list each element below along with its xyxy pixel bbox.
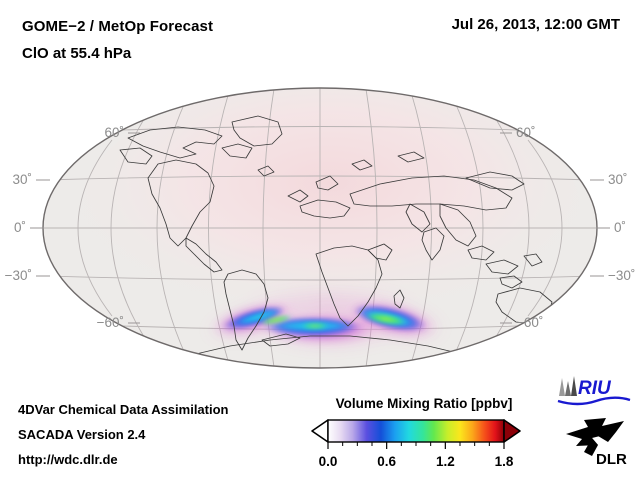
lat-label-30n-right: 30˚ — [608, 172, 628, 187]
dlr-logo: DLR — [562, 412, 634, 468]
colorbar-right-cap — [504, 420, 520, 442]
footer-line-1: 4DVar Chemical Data Assimilation — [18, 402, 229, 417]
lat-label-0-left: 0˚ — [14, 220, 26, 235]
header-species: ClO at 55.4 hPa — [22, 43, 131, 64]
riu-bars-icon — [559, 376, 577, 396]
lat-label-60s-left: −60˚ — [97, 315, 124, 330]
riu-logo: RIU — [556, 374, 632, 408]
colorbar-tick-label: 0.6 — [377, 454, 396, 469]
lat-label-30s-left: −30˚ — [5, 268, 32, 283]
colorbar-left-cap — [312, 420, 328, 442]
colorbar-title: Volume Mixing Ratio [ppbv] — [308, 396, 540, 411]
dlr-wordmark: DLR — [596, 451, 627, 468]
riu-wordmark: RIU — [578, 378, 612, 399]
footer-line-2: SACADA Version 2.4 — [18, 427, 145, 442]
colorbar-gradient — [328, 420, 504, 442]
colorbar: Volume Mixing Ratio [ppbv] 0.00.61.21.8 — [308, 396, 548, 476]
lat-label-30s-right: −30˚ — [608, 268, 635, 283]
world-map: 60˚ 30˚ 0˚ −30˚ −60˚ 60˚ 30˚ 0˚ −30˚ −60… — [0, 78, 640, 383]
colorbar-tick-labels: 0.00.61.21.8 — [319, 454, 514, 469]
colorbar-ticks — [328, 442, 504, 449]
footer-line-3[interactable]: http://wdc.dlr.de — [18, 452, 118, 467]
map-svg: 60˚ 30˚ 0˚ −30˚ −60˚ 60˚ 30˚ 0˚ −30˚ −60… — [0, 78, 640, 383]
colorbar-tick-label: 1.2 — [436, 454, 455, 469]
lat-label-0-right: 0˚ — [614, 220, 626, 235]
header-instrument: GOME−2 / MetOp Forecast — [22, 16, 213, 37]
lat-label-60n-right: 60˚ — [516, 125, 536, 140]
lat-label-30n-left: 30˚ — [12, 172, 32, 187]
colorbar-svg: 0.00.61.21.8 — [308, 418, 548, 476]
header-datetime: Jul 26, 2013, 12:00 GMT — [452, 16, 620, 33]
lat-label-60s-right: −60˚ — [516, 315, 543, 330]
colorbar-tick-label: 0.0 — [319, 454, 338, 469]
colorbar-tick-label: 1.8 — [495, 454, 514, 469]
lat-label-60n-left: 60˚ — [104, 125, 124, 140]
figure-canvas: GOME−2 / MetOp Forecast ClO at 55.4 hPa … — [0, 0, 640, 480]
